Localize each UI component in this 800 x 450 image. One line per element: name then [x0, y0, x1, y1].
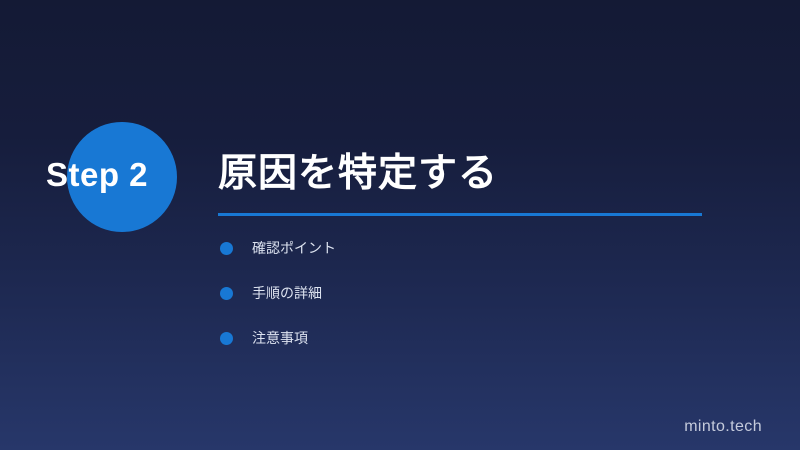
list-item: 注意事項	[220, 328, 680, 348]
title-divider	[218, 213, 702, 216]
step-badge-label: Step 2	[46, 152, 148, 198]
bullet-list: 確認ポイント 手順の詳細 注意事項	[220, 238, 680, 348]
list-item-label: 注意事項	[252, 328, 308, 348]
bullet-dot-icon	[220, 242, 233, 255]
list-item: 手順の詳細	[220, 283, 680, 303]
list-item-label: 手順の詳細	[252, 283, 322, 303]
list-item: 確認ポイント	[220, 238, 680, 258]
list-item-label: 確認ポイント	[252, 238, 336, 258]
bullet-dot-icon	[220, 287, 233, 300]
slide-title: 原因を特定する	[218, 146, 498, 202]
slide-canvas: Step 2 原因を特定する 確認ポイント 手順の詳細 注意事項 minto.t…	[0, 0, 800, 450]
footer-brand: minto.tech	[684, 418, 762, 436]
bullet-dot-icon	[220, 332, 233, 345]
